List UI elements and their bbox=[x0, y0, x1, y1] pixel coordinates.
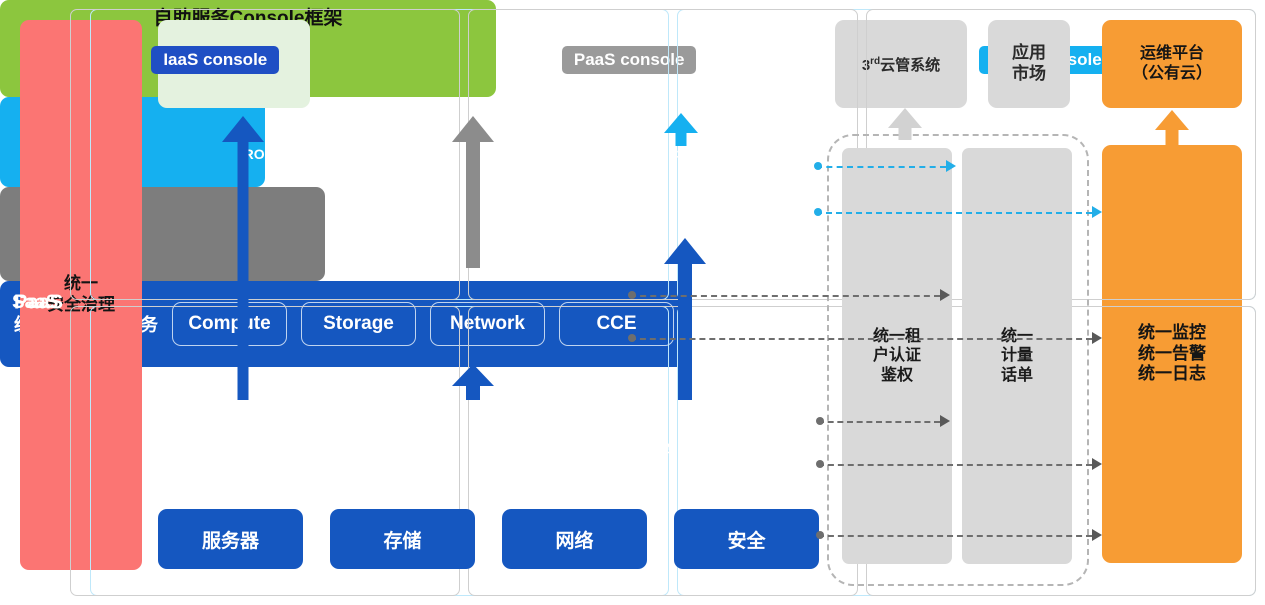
connector-dot-paas-1 bbox=[628, 291, 636, 299]
connector-dot-infra-1 bbox=[816, 417, 824, 425]
connector-arrowhead-paas-2 bbox=[1092, 332, 1102, 344]
arrow-ops-panel-to-ops-platform bbox=[1155, 110, 1189, 146]
connector-paas-to-tenant-auth bbox=[630, 295, 940, 297]
connector-arrowhead-hardware bbox=[1092, 529, 1102, 541]
arrow-infra-to-api-gateway bbox=[222, 116, 264, 400]
hardware-network-box: 网络 bbox=[502, 509, 647, 569]
architecture-diagram: 统一 安全治理 API网关 自助服务Console框架 IaaS console… bbox=[0, 0, 1265, 605]
connector-arrowhead-paas-1 bbox=[940, 289, 950, 301]
paas-title: PaaS bbox=[14, 291, 63, 314]
hardware-server-box: 服务器 bbox=[158, 509, 303, 569]
hardware-security-label: 安全 bbox=[727, 526, 765, 553]
connector-infra-to-ops bbox=[818, 464, 1092, 466]
connector-dot-paas-2 bbox=[628, 334, 636, 342]
connector-hardware-to-ops bbox=[818, 535, 1092, 537]
hardware-security-box: 安全 bbox=[674, 509, 819, 569]
connector-arrowhead-infra-1 bbox=[940, 415, 950, 427]
arrow-paas-to-console bbox=[452, 116, 494, 268]
unified-tenant-auth-label: 统一租 户认证 鉴权 bbox=[873, 327, 921, 386]
unified-tenant-auth-column: 统一租 户认证 鉴权 bbox=[842, 148, 952, 564]
connector-dot-infra-2 bbox=[816, 460, 824, 468]
hardware-storage-label: 存储 bbox=[383, 526, 421, 553]
connector-infra-to-tenant-auth bbox=[818, 421, 940, 423]
arrow-saas-to-console bbox=[664, 113, 698, 146]
connector-dot-hardware bbox=[816, 531, 824, 539]
connector-arrowhead-saas-1 bbox=[946, 160, 956, 172]
arrow-infra-to-paas bbox=[452, 364, 494, 400]
hardware-network-label: 网络 bbox=[555, 526, 593, 553]
connector-dot-saas-1 bbox=[814, 162, 822, 170]
paas-service-dgc[interactable]: DGC bbox=[468, 9, 858, 300]
connector-saas-to-ops bbox=[816, 212, 1092, 214]
hardware-server-label: 服务器 bbox=[202, 526, 259, 553]
arrow-infra-to-saas bbox=[664, 238, 706, 400]
connector-arrowhead-saas-2 bbox=[1092, 206, 1102, 218]
connector-arrowhead-infra-2 bbox=[1092, 458, 1102, 470]
hardware-storage-box: 存储 bbox=[330, 509, 475, 569]
arrow-shared-to-third-party-cloud bbox=[888, 108, 922, 140]
connector-paas-to-ops bbox=[630, 338, 1092, 340]
unified-metering-column: 统一 计量 话单 bbox=[962, 148, 1072, 564]
unified-metering-label: 统一 计量 话单 bbox=[1001, 327, 1033, 386]
connector-dot-saas-2 bbox=[814, 208, 822, 216]
connector-saas-to-metering bbox=[816, 166, 946, 168]
paas-service-roma[interactable]: ROMA bbox=[70, 9, 460, 300]
